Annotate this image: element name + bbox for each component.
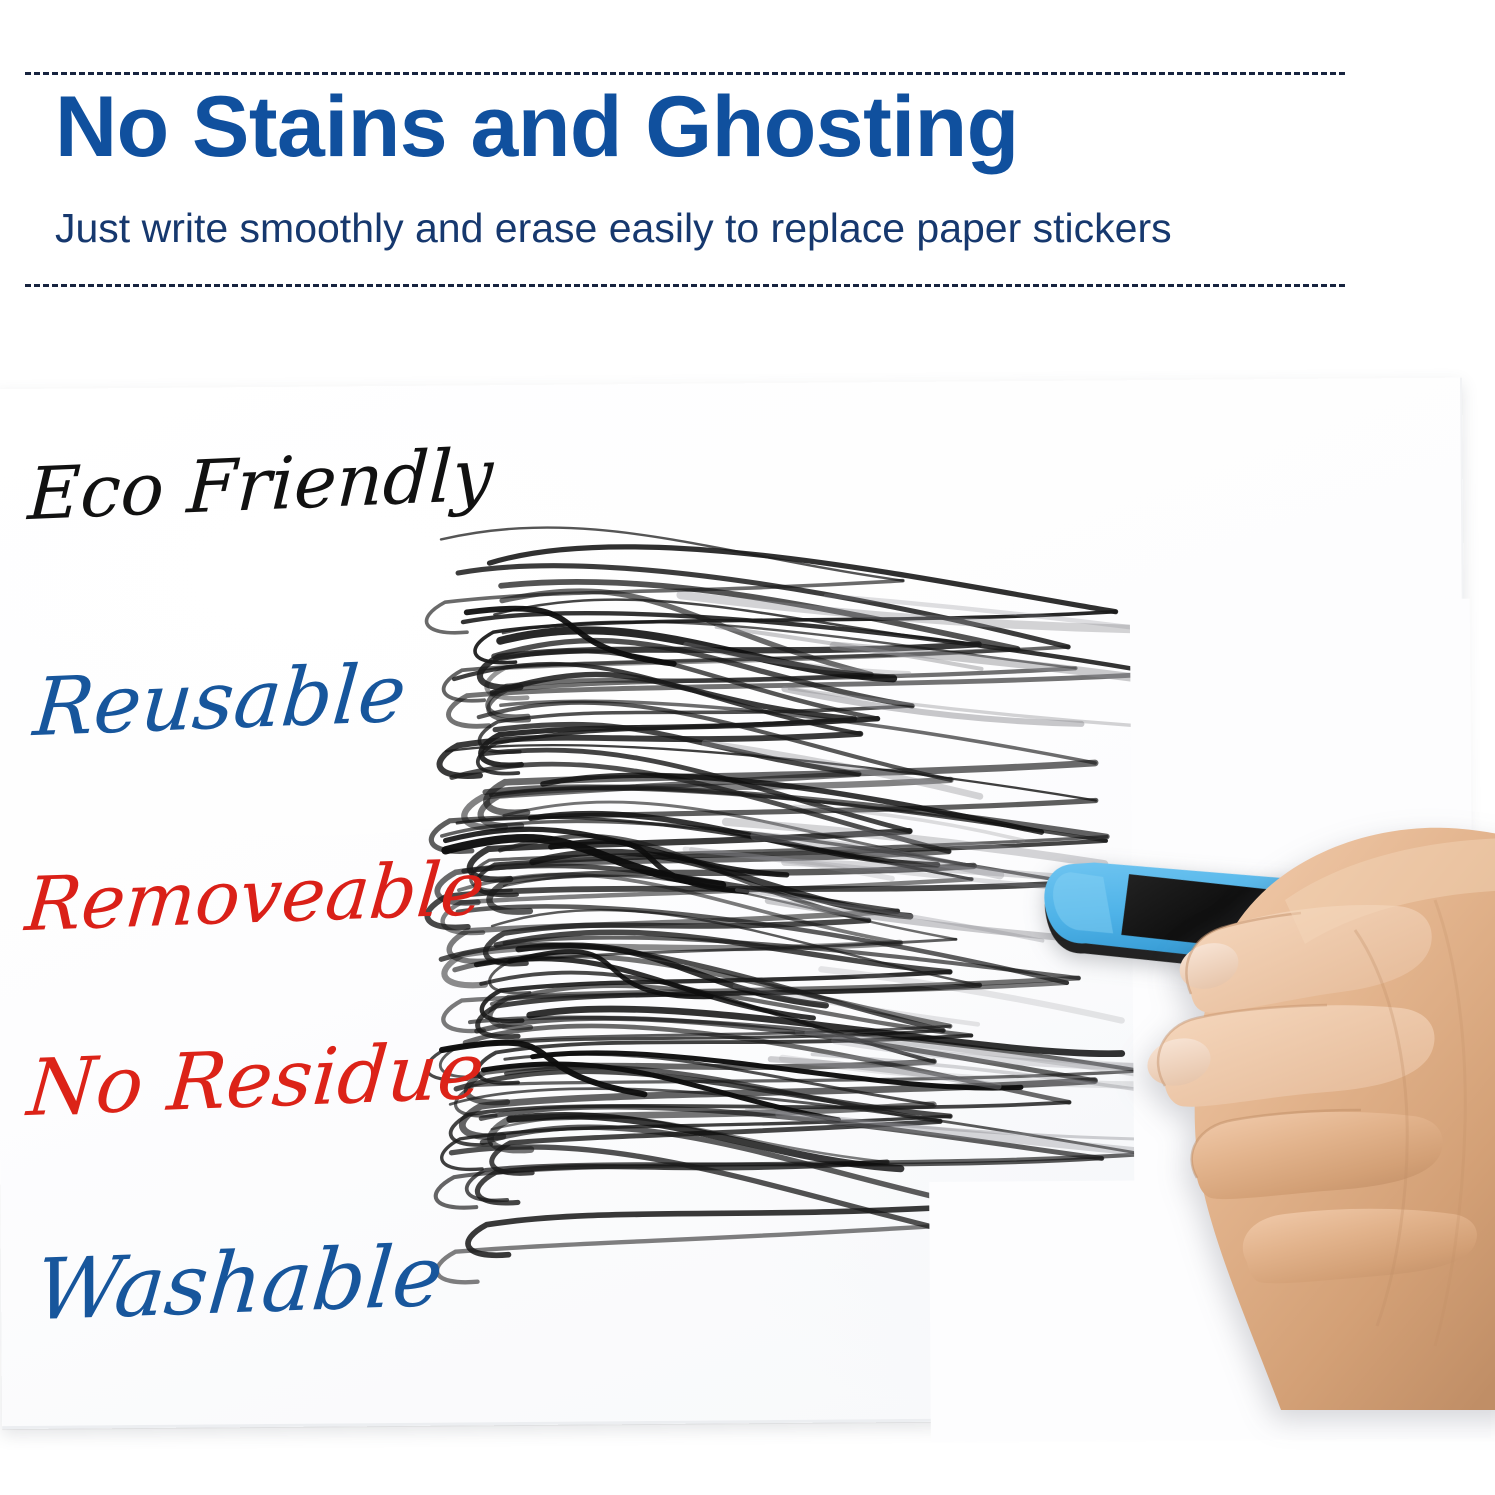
header-divider-bottom xyxy=(25,284,1345,287)
page-subtitle: Just write smoothly and erase easily to … xyxy=(55,208,1415,249)
header-banner: No Stains and Ghosting Just write smooth… xyxy=(0,0,1495,300)
handwritten-label-removeable: Removeable xyxy=(23,852,488,942)
header-divider-top xyxy=(25,72,1345,75)
hand-holding-eraser xyxy=(1105,780,1495,1410)
product-photo: Eco Friendly Reusable Removeable No Resi… xyxy=(0,300,1495,1495)
handwritten-label-no-residue: No Residue xyxy=(25,1032,487,1128)
page-title: No Stains and Ghosting xyxy=(55,84,1395,170)
hand-illustration xyxy=(1105,780,1495,1410)
handwritten-label-eco-friendly: Eco Friendly xyxy=(26,438,494,530)
handwritten-label-washable: Washable xyxy=(32,1234,446,1333)
handwritten-label-reusable: Reusable xyxy=(31,654,409,749)
